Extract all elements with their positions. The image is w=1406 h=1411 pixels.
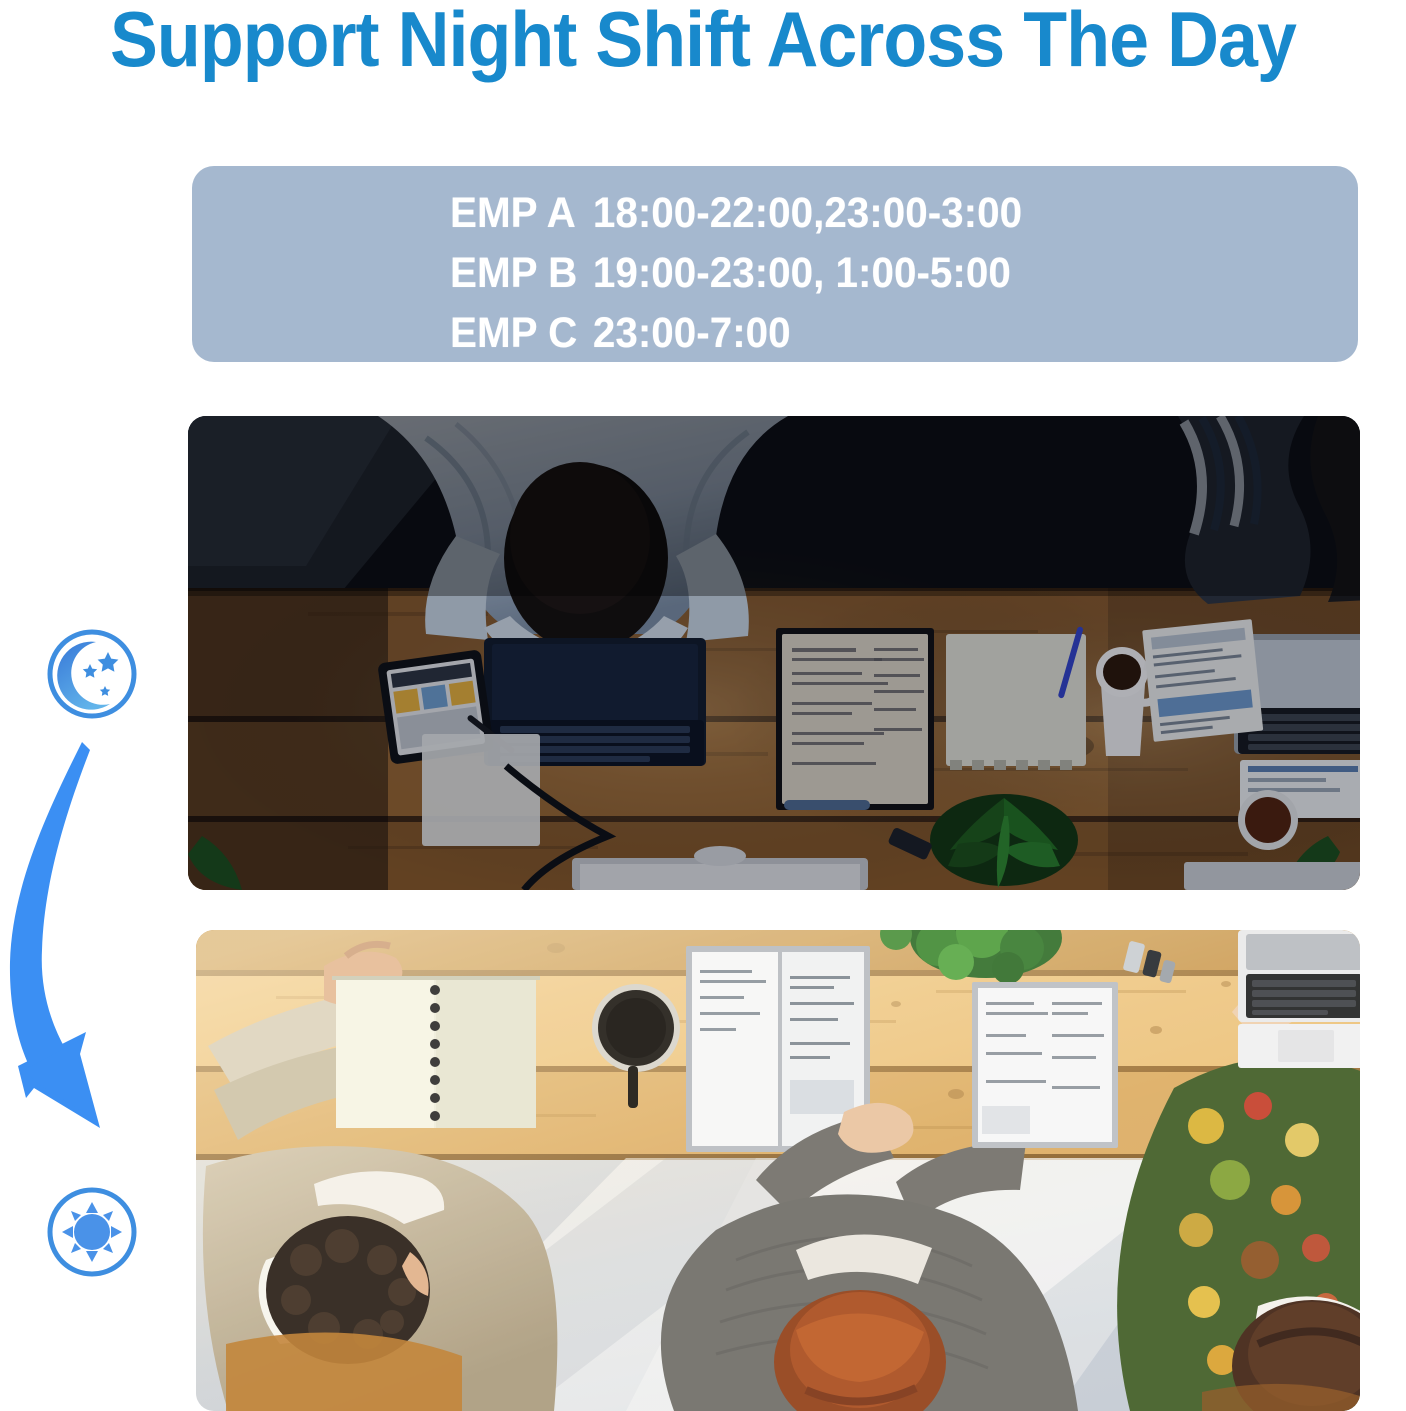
night-office-photo [188,416,1360,890]
curved-down-arrow-icon [4,736,176,1156]
shift-employee-label: EMP A [450,188,593,238]
shift-row: EMP B19:00-23:00, 1:00-5:00 [450,248,1304,298]
page-title: Support Night Shift Across The Day [56,0,1350,82]
shift-hours-label: 23:00-7:00 [593,309,791,357]
shift-row-list: EMP A18:00-22:00,23:00-3:00 EMP B19:00-2… [192,188,1358,358]
shift-hours-label: 19:00-23:00, 1:00-5:00 [593,249,1011,297]
day-mode-badge [44,1184,140,1280]
shift-hours-label: 18:00-22:00,23:00-3:00 [593,189,1022,237]
shift-row: EMP A18:00-22:00,23:00-3:00 [450,188,1304,238]
shift-row: EMP C23:00-7:00 [450,308,1304,358]
shift-employee-label: EMP C [450,308,593,358]
shift-employee-label: EMP B [450,248,593,298]
night-mode-badge [44,626,140,722]
day-office-photo [196,930,1360,1411]
shift-schedule-panel: EMP A18:00-22:00,23:00-3:00 EMP B19:00-2… [192,166,1358,362]
